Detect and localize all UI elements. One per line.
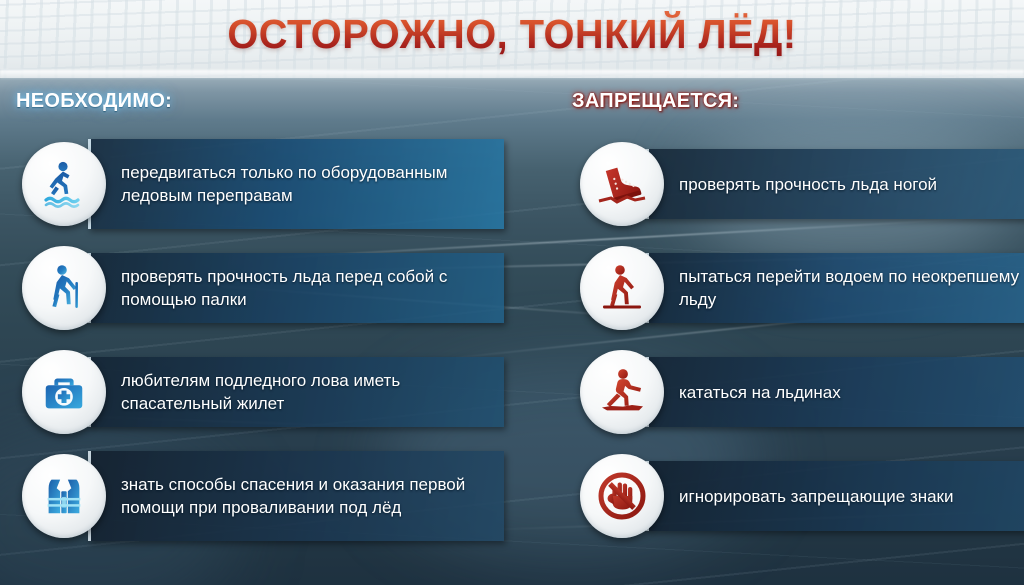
first-aid-kit-icon <box>22 350 106 434</box>
list-item: любителям подледного лова иметь спасател… <box>8 344 504 440</box>
list-item: кататься на льдинах <box>566 344 1024 440</box>
item-text: кататься на льдинах <box>679 381 841 404</box>
item-label: любителям подледного лова иметь спасател… <box>88 357 504 427</box>
heading-forbidden: ЗАПРЕЩАЕТСЯ: <box>572 90 739 113</box>
item-text: передвигаться только по оборудованным ле… <box>121 161 490 207</box>
heading-allowed: НЕОБХОДИМО: <box>16 90 172 113</box>
poster-title: ОСТОРОЖНО, ТОНКИЙ ЛЁД! <box>15 6 1008 62</box>
item-text: проверять прочность льда ногой <box>679 173 937 196</box>
item-text: любителям подледного лова иметь спасател… <box>121 369 490 415</box>
item-label: проверять прочность льда перед собой с п… <box>88 253 504 323</box>
item-label: игнорировать запрещающие знаки <box>646 461 1024 531</box>
walking-person-on-ice-icon <box>22 142 106 226</box>
person-walking-thin-ice-icon <box>580 246 664 330</box>
item-label: знать способы спасения и оказания первой… <box>88 451 504 541</box>
list-item: проверять прочность льда ногой <box>566 136 1024 232</box>
item-text: пытаться перейти водоем по неокрепшему л… <box>679 265 1024 311</box>
item-text: игнорировать запрещающие знаки <box>679 485 953 508</box>
person-with-stick-icon <box>22 246 106 330</box>
column-allowed: передвигаться только по оборудованным ле… <box>8 136 504 552</box>
item-label: пытаться перейти водоем по неокрепшему л… <box>646 253 1024 323</box>
list-item: игнорировать запрещающие знаки <box>566 448 1024 544</box>
person-riding-ice-floe-icon <box>580 350 664 434</box>
item-label: передвигаться только по оборудованным ле… <box>88 139 504 229</box>
boot-cracking-ice-icon <box>580 142 664 226</box>
item-text: проверять прочность льда перед собой с п… <box>121 265 490 311</box>
life-vest-icon <box>22 454 106 538</box>
item-label: проверять прочность льда ногой <box>646 149 1024 219</box>
no-entry-hand-icon <box>580 454 664 538</box>
list-item: знать способы спасения и оказания первой… <box>8 448 504 544</box>
list-item: пытаться перейти водоем по неокрепшему л… <box>566 240 1024 336</box>
column-forbidden: проверять прочность льда ногой <box>566 136 1024 552</box>
poster-root: ОСТОРОЖНО, ТОНКИЙ ЛЁД! ОСТОРОЖНО, ТОНКИЙ… <box>0 0 1024 585</box>
list-item: проверять прочность льда перед собой с п… <box>8 240 504 336</box>
item-label: кататься на льдинах <box>646 357 1024 427</box>
item-text: знать способы спасения и оказания первой… <box>121 473 490 519</box>
list-item: передвигаться только по оборудованным ле… <box>8 136 504 232</box>
